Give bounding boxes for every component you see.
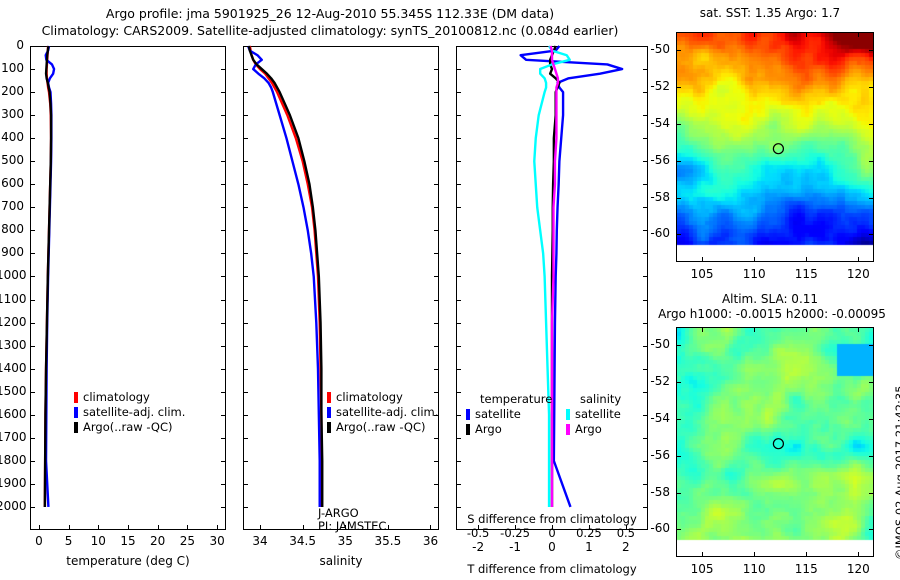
depth-tick-label: 2000 — [0, 499, 24, 513]
axis-tick — [434, 276, 439, 277]
axis-tick — [676, 161, 681, 162]
legend-color-swatch — [327, 392, 331, 403]
axis-tick — [643, 92, 648, 93]
axis-tick — [869, 161, 874, 162]
axis-tick — [221, 323, 226, 324]
legend-label: Argo — [475, 422, 502, 436]
axis-tick — [676, 234, 681, 235]
axis-tick — [754, 257, 755, 262]
legend-label: Argo(..raw -QC) — [336, 420, 426, 434]
axis-tick — [221, 438, 226, 439]
axis-tick — [434, 46, 439, 47]
legend-color-swatch — [74, 392, 78, 403]
map-lon-tick-label: 115 — [781, 267, 831, 281]
axis-tick — [806, 257, 807, 262]
axis-tick — [858, 257, 859, 262]
axis-tick — [434, 415, 439, 416]
axis-tick — [243, 346, 248, 347]
axis-tick — [243, 115, 248, 116]
axis-tick — [243, 138, 248, 139]
axis-tick — [643, 461, 648, 462]
axis-tick — [243, 415, 248, 416]
difference-s-axis-label: S difference from climatology — [456, 512, 648, 526]
map-lat-tick-label: -54 — [636, 116, 670, 130]
map-lat-tick-label: -50 — [636, 42, 670, 56]
legend-label: satellite — [575, 407, 621, 421]
axis-tick — [221, 300, 226, 301]
imos-watermark: ©IMOS 02-Aug-2017 21:42:35 — [893, 385, 900, 560]
axis-tick — [456, 276, 461, 277]
map-lat-tick-label: -60 — [636, 521, 670, 535]
axis-tick — [643, 161, 648, 162]
axis-tick — [221, 415, 226, 416]
axis-tick — [456, 300, 461, 301]
axis-tick — [434, 461, 439, 462]
sst-map-title: sat. SST: 1.35 Argo: 1.7 — [655, 6, 885, 20]
axis-tick — [221, 46, 226, 47]
legend-color-swatch — [327, 407, 331, 418]
axis-tick — [221, 253, 226, 254]
axis-tick — [702, 257, 703, 262]
axis-tick — [702, 552, 703, 557]
axis-tick — [869, 198, 874, 199]
axis-tick — [456, 115, 461, 116]
depth-tick-label: 1900 — [0, 476, 24, 490]
axis-tick — [869, 50, 874, 51]
axis-tick — [434, 138, 439, 139]
axis-tick — [643, 415, 648, 416]
axis-tick — [243, 161, 248, 162]
axis-tick — [869, 87, 874, 88]
axis-tick — [243, 323, 248, 324]
axis-tick — [434, 161, 439, 162]
sla-map-title-line2: Argo h1000: -0.0015 h2000: -0.00095 — [650, 307, 894, 321]
map-lon-tick-label: 110 — [729, 562, 779, 576]
axis-tick — [456, 323, 461, 324]
axis-tick — [643, 323, 648, 324]
axis-tick — [643, 115, 648, 116]
axis-tick — [434, 346, 439, 347]
depth-tick-label: 500 — [0, 153, 24, 167]
axis-tick — [243, 392, 248, 393]
legend-label: climatology — [336, 390, 403, 404]
salinity-plot-svg — [243, 46, 439, 530]
axis-tick — [30, 230, 35, 231]
map-lat-tick-label: -52 — [636, 79, 670, 93]
axis-tick — [434, 438, 439, 439]
map-lat-tick-label: -52 — [636, 374, 670, 388]
axis-tick — [676, 456, 681, 457]
axis-tick — [643, 392, 648, 393]
axis-tick — [434, 69, 439, 70]
axis-tick — [754, 552, 755, 557]
map-lat-tick-label: -58 — [636, 485, 670, 499]
axis-tick — [456, 484, 461, 485]
axis-tick — [243, 92, 248, 93]
axis-tick — [858, 552, 859, 557]
axis-tick — [243, 230, 248, 231]
depth-tick-label: 400 — [0, 130, 24, 144]
axis-tick — [30, 115, 35, 116]
map-lat-tick-label: -56 — [636, 153, 670, 167]
axis-tick — [434, 253, 439, 254]
legend-column-header: salinity — [580, 392, 621, 406]
axis-tick — [30, 138, 35, 139]
axis-tick — [243, 507, 248, 508]
salinity-annotation-jargo: J-ARGO — [318, 506, 359, 520]
axis-tick — [303, 525, 304, 530]
depth-tick-label: 1000 — [0, 268, 24, 282]
sst-map-marker-layer — [676, 32, 874, 262]
axis-tick — [221, 507, 226, 508]
axis-tick — [643, 207, 648, 208]
depth-tick-label: 1300 — [0, 338, 24, 352]
temperature-plot-svg — [30, 46, 226, 530]
axis-tick — [456, 161, 461, 162]
axis-tick-label: 2 — [601, 540, 651, 554]
depth-tick-label: 1700 — [0, 430, 24, 444]
depth-tick-label: 900 — [0, 245, 24, 259]
map-lat-tick-label: -56 — [636, 448, 670, 462]
map-lon-tick-label: 105 — [677, 562, 727, 576]
axis-tick — [456, 253, 461, 254]
axis-tick — [869, 529, 874, 530]
axis-tick — [643, 507, 648, 508]
axis-tick — [30, 323, 35, 324]
axis-tick — [30, 161, 35, 162]
axis-tick — [434, 300, 439, 301]
axis-tick — [643, 69, 648, 70]
legend-label: satellite — [475, 407, 521, 421]
axis-tick — [858, 32, 859, 37]
axis-tick — [434, 230, 439, 231]
axis-tick — [434, 507, 439, 508]
legend-label: satellite-adj. clim. — [83, 405, 185, 419]
axis-tick — [676, 493, 681, 494]
axis-tick — [456, 184, 461, 185]
depth-tick-label: 1600 — [0, 407, 24, 421]
axis-tick — [456, 507, 461, 508]
map-lat-tick-label: -50 — [636, 337, 670, 351]
axis-tick — [30, 438, 35, 439]
axis-tick — [243, 46, 248, 47]
axis-tick — [456, 415, 461, 416]
axis-tick — [869, 419, 874, 420]
axis-tick — [30, 300, 35, 301]
depth-tick-label: 600 — [0, 176, 24, 190]
axis-tick — [869, 456, 874, 457]
legend-color-swatch — [327, 422, 331, 433]
axis-tick — [643, 484, 648, 485]
axis-tick — [434, 184, 439, 185]
axis-tick — [456, 138, 461, 139]
axis-tick — [30, 46, 35, 47]
axis-tick — [388, 525, 389, 530]
axis-tick — [434, 207, 439, 208]
axis-tick — [221, 276, 226, 277]
axis-tick — [456, 369, 461, 370]
axis-tick — [30, 415, 35, 416]
axis-tick — [806, 32, 807, 37]
axis-tick — [243, 369, 248, 370]
legend-column-header: temperature — [480, 392, 552, 406]
axis-tick — [430, 525, 431, 530]
legend-color-swatch — [566, 424, 570, 435]
axis-tick — [221, 369, 226, 370]
axis-tick — [676, 529, 681, 530]
axis-tick — [456, 69, 461, 70]
axis-tick — [217, 525, 218, 530]
axis-tick — [221, 461, 226, 462]
map-lon-tick-label: 115 — [781, 562, 831, 576]
axis-tick — [98, 525, 99, 530]
legend-label: climatology — [83, 390, 150, 404]
axis-tick — [643, 138, 648, 139]
salinity-axis-label: salinity — [243, 554, 439, 568]
axis-tick — [243, 300, 248, 301]
axis-tick — [456, 461, 461, 462]
axis-tick — [30, 346, 35, 347]
axis-tick — [643, 346, 648, 347]
axis-tick — [869, 234, 874, 235]
axis-tick — [676, 382, 681, 383]
axis-tick — [434, 484, 439, 485]
figure-title-line2: Climatology: CARS2009. Satellite-adjuste… — [0, 23, 660, 38]
axis-tick — [221, 207, 226, 208]
axis-tick — [243, 253, 248, 254]
axis-tick — [221, 138, 226, 139]
difference-t-axis-label: T difference from climatology — [450, 562, 654, 576]
axis-tick — [754, 32, 755, 37]
axis-tick — [243, 207, 248, 208]
depth-tick-label: 1500 — [0, 384, 24, 398]
axis-tick — [434, 369, 439, 370]
axis-tick — [221, 92, 226, 93]
axis-tick — [30, 69, 35, 70]
axis-tick — [643, 276, 648, 277]
axis-tick — [643, 184, 648, 185]
axis-tick — [754, 327, 755, 332]
axis-tick — [702, 32, 703, 37]
depth-tick-label: 200 — [0, 84, 24, 98]
axis-tick — [676, 124, 681, 125]
axis-tick — [243, 184, 248, 185]
depth-tick-label: 800 — [0, 222, 24, 236]
axis-tick-label: 36 — [405, 534, 455, 548]
legend-color-swatch — [466, 409, 470, 420]
legend-color-swatch — [74, 407, 78, 418]
axis-tick — [434, 392, 439, 393]
temperature-axis-label: temperature (deg C) — [30, 554, 226, 568]
axis-tick — [221, 115, 226, 116]
depth-tick-label: 100 — [0, 61, 24, 75]
salinity-annotation-pi: PI: JAMSTEC — [318, 519, 386, 533]
axis-tick — [69, 525, 70, 530]
axis-tick — [456, 92, 461, 93]
legend-color-swatch — [466, 424, 470, 435]
depth-tick-label: 300 — [0, 107, 24, 121]
axis-tick — [243, 484, 248, 485]
axis-tick — [643, 46, 648, 47]
axis-tick — [221, 230, 226, 231]
axis-tick — [128, 525, 129, 530]
legend-color-swatch — [566, 409, 570, 420]
map-lat-tick-label: -54 — [636, 411, 670, 425]
figure-title-line1: Argo profile: jma 5901925_26 12-Aug-2010… — [0, 6, 660, 21]
depth-tick-label: 1200 — [0, 315, 24, 329]
axis-tick — [643, 300, 648, 301]
axis-tick — [643, 438, 648, 439]
axis-tick — [456, 438, 461, 439]
axis-tick — [456, 392, 461, 393]
axis-tick — [221, 161, 226, 162]
axis-tick — [434, 115, 439, 116]
axis-tick — [456, 346, 461, 347]
sla-map-title-line1: Altim. SLA: 0.11 — [655, 292, 885, 306]
axis-tick — [456, 207, 461, 208]
axis-tick — [221, 346, 226, 347]
axis-tick — [676, 198, 681, 199]
axis-tick — [243, 461, 248, 462]
axis-tick — [30, 507, 35, 508]
map-lon-tick-label: 120 — [833, 267, 883, 281]
axis-tick — [260, 525, 261, 530]
map-lat-tick-label: -58 — [636, 190, 670, 204]
depth-tick-label: 700 — [0, 199, 24, 213]
axis-tick — [676, 50, 681, 51]
axis-tick — [456, 46, 461, 47]
axis-tick — [30, 253, 35, 254]
axis-tick — [30, 276, 35, 277]
axis-tick — [221, 69, 226, 70]
axis-tick — [30, 461, 35, 462]
axis-tick — [869, 124, 874, 125]
axis-tick — [221, 484, 226, 485]
axis-tick — [643, 253, 648, 254]
axis-tick — [30, 184, 35, 185]
depth-tick-label: 1400 — [0, 361, 24, 375]
axis-tick — [243, 438, 248, 439]
map-lat-tick-label: -60 — [636, 226, 670, 240]
axis-tick — [676, 345, 681, 346]
axis-tick — [30, 484, 35, 485]
axis-tick — [30, 207, 35, 208]
axis-tick — [869, 345, 874, 346]
axis-tick — [158, 525, 159, 530]
map-lon-tick-label: 105 — [677, 267, 727, 281]
legend-label: Argo(..raw -QC) — [83, 420, 173, 434]
axis-tick — [221, 184, 226, 185]
axis-tick — [869, 493, 874, 494]
depth-tick-label: 1100 — [0, 292, 24, 306]
axis-tick — [643, 230, 648, 231]
axis-tick — [30, 369, 35, 370]
axis-tick — [434, 323, 439, 324]
depth-tick-label: 0 — [0, 38, 24, 52]
axis-tick — [676, 419, 681, 420]
axis-tick — [643, 369, 648, 370]
axis-tick — [676, 87, 681, 88]
depth-tick-label: 1800 — [0, 453, 24, 467]
axis-tick — [39, 525, 40, 530]
legend-label: satellite-adj. clim. — [336, 405, 438, 419]
axis-tick — [456, 230, 461, 231]
axis-tick — [702, 327, 703, 332]
axis-tick — [806, 327, 807, 332]
axis-tick — [869, 382, 874, 383]
axis-tick — [243, 276, 248, 277]
axis-tick — [30, 92, 35, 93]
axis-tick — [806, 552, 807, 557]
legend-color-swatch — [74, 422, 78, 433]
axis-tick — [243, 69, 248, 70]
difference-plot-svg — [456, 46, 648, 530]
axis-tick — [221, 392, 226, 393]
axis-tick — [30, 392, 35, 393]
axis-tick — [434, 92, 439, 93]
axis-tick — [858, 327, 859, 332]
axis-tick — [187, 525, 188, 530]
map-lon-tick-label: 120 — [833, 562, 883, 576]
sla-map-marker-layer — [676, 327, 874, 557]
map-lon-tick-label: 110 — [729, 267, 779, 281]
legend-label: Argo — [575, 422, 602, 436]
